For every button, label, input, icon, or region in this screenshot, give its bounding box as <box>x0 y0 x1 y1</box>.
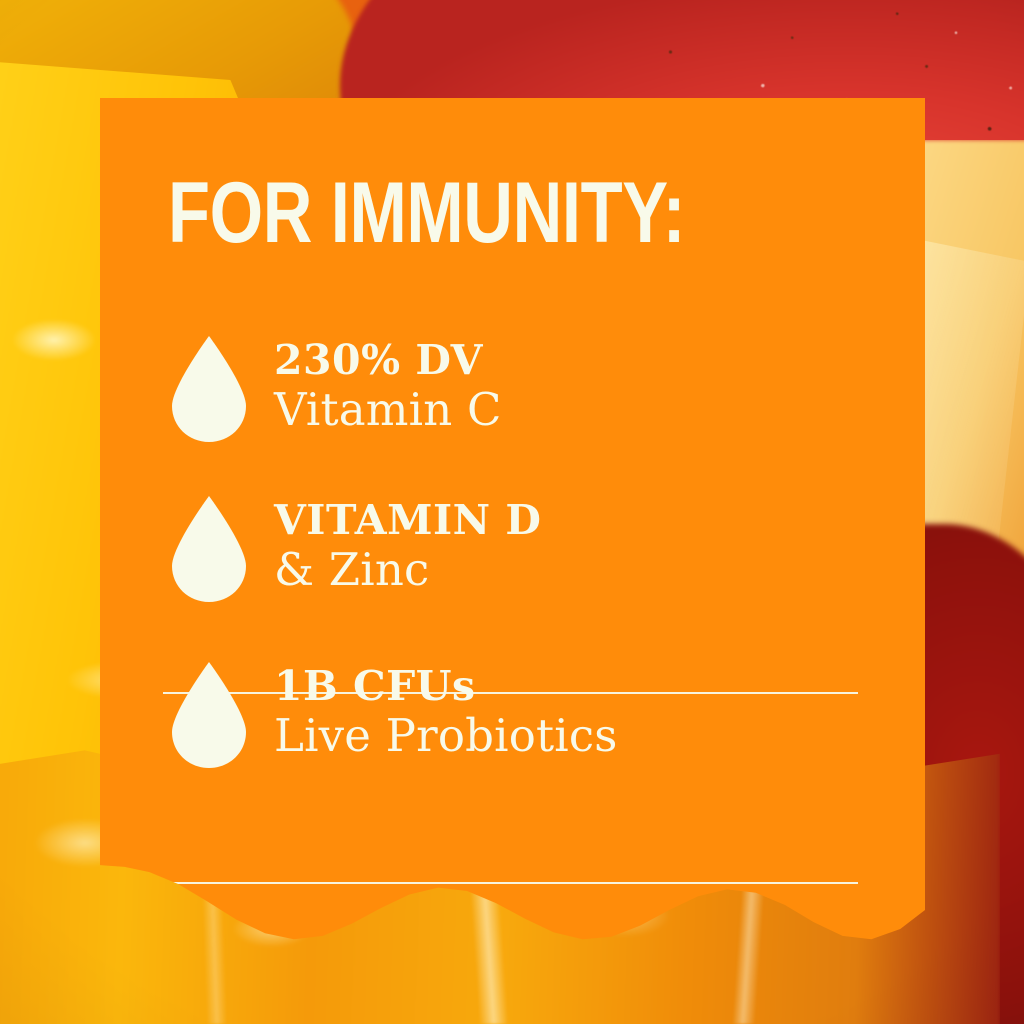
benefit-title: 1B CFUs <box>274 666 618 708</box>
page-title: FOR IMMUNITY: <box>168 174 685 253</box>
benefit-text: VITAMIN D & Zinc <box>274 500 541 598</box>
droplet-icon <box>166 334 252 444</box>
benefit-text: 230% DV Vitamin C <box>274 340 502 438</box>
benefit-list: 230% DV Vitamin C VITAMIN D & Zinc <box>100 320 925 790</box>
benefit-subtitle: Live Probiotics <box>274 712 618 761</box>
benefit-title: VITAMIN D <box>274 500 541 542</box>
benefit-subtitle: & Zinc <box>274 546 541 595</box>
list-item: 230% DV Vitamin C <box>100 320 925 458</box>
droplet-icon <box>166 660 252 770</box>
list-divider <box>163 882 858 884</box>
info-card-panel: FOR IMMUNITY: 230% DV Vitamin C <box>100 98 925 960</box>
promo-graphic: FOR IMMUNITY: 230% DV Vitamin C <box>0 0 1024 1024</box>
benefit-title: 230% DV <box>274 340 502 382</box>
droplet-icon <box>166 494 252 604</box>
benefit-text: 1B CFUs Live Probiotics <box>274 666 618 764</box>
benefit-subtitle: Vitamin C <box>274 386 502 435</box>
list-item: VITAMIN D & Zinc <box>100 458 925 640</box>
list-item: 1B CFUs Live Probiotics <box>100 640 925 790</box>
